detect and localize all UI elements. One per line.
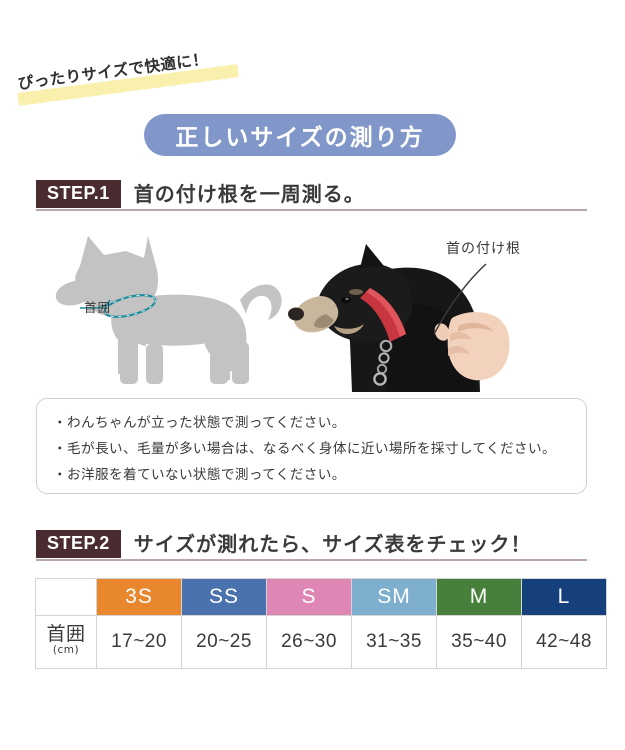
size-value-3s: 17~20 <box>97 616 182 669</box>
neck-base-label: 首の付け根 <box>446 238 521 258</box>
size-table: 3S SS S SM M L 首囲 (cm) 17~20 20~25 26~30… <box>35 578 607 669</box>
size-header-l: L <box>522 579 607 616</box>
note-item: ・わんちゃんが立った状態で測ってください。 <box>53 410 570 436</box>
measurement-notes: ・わんちゃんが立った状態で測ってください。 ・毛が長い、毛量が多い場合は、なるべ… <box>36 398 587 494</box>
size-value-l: 42~48 <box>522 616 607 669</box>
size-value-sm: 31~35 <box>352 616 437 669</box>
step-2-badge: STEP.2 <box>36 530 121 558</box>
size-header-sm: SM <box>352 579 437 616</box>
size-value-m: 35~40 <box>437 616 522 669</box>
size-header-s: S <box>267 579 352 616</box>
step-1-header: STEP.1 首の付け根を一周測る。 <box>36 178 365 208</box>
size-value-ss: 20~25 <box>182 616 267 669</box>
step-1-text: 首の付け根を一周測る。 <box>134 178 365 207</box>
size-guide-page: ぴったりサイズで快適に！ 正しいサイズの測り方 STEP.1 首の付け根を一周測… <box>0 0 625 750</box>
page-title-text: 正しいサイズの測り方 <box>175 118 424 152</box>
size-table-header-row: 3S SS S SM M L <box>36 579 607 616</box>
note-item: ・お洋服を着ていない状態で測ってください。 <box>53 462 570 488</box>
size-value-s: 26~30 <box>267 616 352 669</box>
size-header-m: M <box>437 579 522 616</box>
step-2-rule <box>36 559 587 561</box>
size-header-ss: SS <box>182 579 267 616</box>
step-1-badge: STEP.1 <box>36 180 121 208</box>
step-2-text: サイズが測れたら、サイズ表をチェック！ <box>134 528 532 557</box>
page-title: 正しいサイズの測り方 <box>144 114 456 156</box>
note-item: ・毛が長い、毛量が多い場合は、なるべく身体に近い場所を採寸してください。 <box>53 436 570 462</box>
measuring-photo <box>288 222 594 392</box>
size-table-corner-cell <box>36 579 97 616</box>
step-1-rule <box>36 209 587 211</box>
size-table-data-row: 首囲 (cm) 17~20 20~25 26~30 31~35 35~40 42… <box>36 616 607 669</box>
neck-circumference-label: 首囲 <box>84 297 111 316</box>
size-table-row-label: 首囲 (cm) <box>36 616 97 669</box>
step-2-header: STEP.2 サイズが測れたら、サイズ表をチェック！ <box>36 528 532 558</box>
size-header-3s: 3S <box>97 579 182 616</box>
